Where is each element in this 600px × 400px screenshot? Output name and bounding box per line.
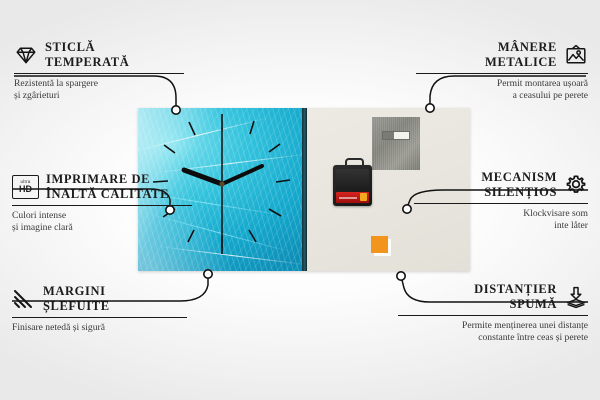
callout-title: MÂNERE METALICE [485, 40, 557, 70]
callout-title-line1: IMPRIMARE DE [46, 172, 169, 187]
callout-header: STICLĂ TEMPERATĂ [14, 40, 184, 70]
callout-desc-line1: Finisare netedă și sigură [12, 322, 187, 334]
callout-description: Permit montarea ușoară a ceasului pe per… [416, 78, 588, 103]
callout-divider [12, 317, 187, 318]
callout-desc-line2: și imagine clară [12, 222, 192, 234]
callout-title: MECANISM SILENȚIOS [481, 170, 557, 200]
callout-margini-slefuite: MARGINI ȘLEFUITE Finisare netedă și sigu… [12, 284, 187, 334]
callout-header: MÂNERE METALICE [416, 40, 588, 70]
callout-title-line1: MARGINI [43, 284, 110, 299]
callout-header: MARGINI ȘLEFUITE [12, 284, 187, 314]
callout-title-line2: METALICE [485, 55, 557, 70]
callout-mecanism-silentios: MECANISM SILENȚIOS Klockvisare som inte … [414, 170, 588, 232]
diamond-icon [14, 43, 38, 67]
polished-edges-icon [12, 287, 36, 311]
callout-description: Culori intense și imagine clară [12, 210, 192, 235]
callout-description: Rezistentă la spargere și zgârieturi [14, 78, 184, 103]
hd-icon-label-main: HD [19, 185, 32, 194]
callout-description: Permite menținerea unei distanțe constan… [398, 320, 588, 345]
callout-title: MARGINI ȘLEFUITE [43, 284, 110, 314]
callout-title-line2: SPUMĂ [474, 297, 557, 312]
callout-desc-line1: Rezistentă la spargere [14, 78, 184, 90]
callout-title: IMPRIMARE DE ÎNALTĂ CALITATE [46, 172, 169, 202]
callout-header: ultra HD IMPRIMARE DE ÎNALTĂ CALITATE [12, 172, 192, 202]
ultra-hd-icon: ultra HD [12, 175, 39, 199]
callout-divider [416, 73, 588, 74]
leader-dot-distantier [397, 272, 405, 280]
callout-description: Finisare netedă și sigură [12, 322, 187, 334]
callout-title: DISTANȚIER SPUMĂ [474, 282, 557, 312]
callout-header: MECANISM SILENȚIOS [414, 170, 588, 200]
callout-desc-line2: constante între ceas și perete [398, 332, 588, 344]
callout-divider [414, 203, 588, 204]
picture-frame-hanger-icon [564, 43, 588, 67]
callout-distantier-spuma: DISTANȚIER SPUMĂ Permite menținerea unei… [398, 282, 588, 344]
callout-desc-line1: Permite menținerea unei distanțe [398, 320, 588, 332]
press-down-pad-icon [564, 285, 588, 309]
callout-title-line2: ȘLEFUITE [43, 299, 110, 314]
callout-title-line1: DISTANȚIER [474, 282, 557, 297]
callout-desc-line1: Culori intense [12, 210, 192, 222]
callout-title-line1: MÂNERE [485, 40, 557, 55]
leader-dot-mecanism [403, 205, 411, 213]
callout-title-line2: SILENȚIOS [481, 185, 557, 200]
callout-title-line1: STICLĂ [45, 40, 129, 55]
callout-desc-line2: inte låter [414, 220, 588, 232]
leader-dot-margini [204, 270, 212, 278]
callout-divider [12, 205, 192, 206]
leader-dot-manere [426, 104, 434, 112]
callout-desc-line2: a ceasului pe perete [416, 90, 588, 102]
callout-desc-line1: Klockvisare som [414, 208, 588, 220]
callout-description: Klockvisare som inte låter [414, 208, 588, 233]
callout-desc-line1: Permit montarea ușoară [416, 78, 588, 90]
callout-sticla-temperata: STICLĂ TEMPERATĂ Rezistentă la spargere … [14, 40, 184, 102]
callout-title-line2: TEMPERATĂ [45, 55, 129, 70]
callout-manere-metalice: MÂNERE METALICE Permit montarea ușoară a… [416, 40, 588, 102]
gear-icon [564, 173, 588, 197]
infographic-canvas: STICLĂ TEMPERATĂ Rezistentă la spargere … [0, 0, 600, 400]
callout-title: STICLĂ TEMPERATĂ [45, 40, 129, 70]
callout-desc-line2: și zgârieturi [14, 90, 184, 102]
callout-divider [398, 315, 588, 316]
leader-dot-sticla [172, 106, 180, 114]
callout-header: DISTANȚIER SPUMĂ [398, 282, 588, 312]
callout-imprimare-hd: ultra HD IMPRIMARE DE ÎNALTĂ CALITATE Cu… [12, 172, 192, 234]
callout-title-line2: ÎNALTĂ CALITATE [46, 187, 169, 202]
callout-title-line1: MECANISM [481, 170, 557, 185]
callout-divider [14, 73, 184, 74]
